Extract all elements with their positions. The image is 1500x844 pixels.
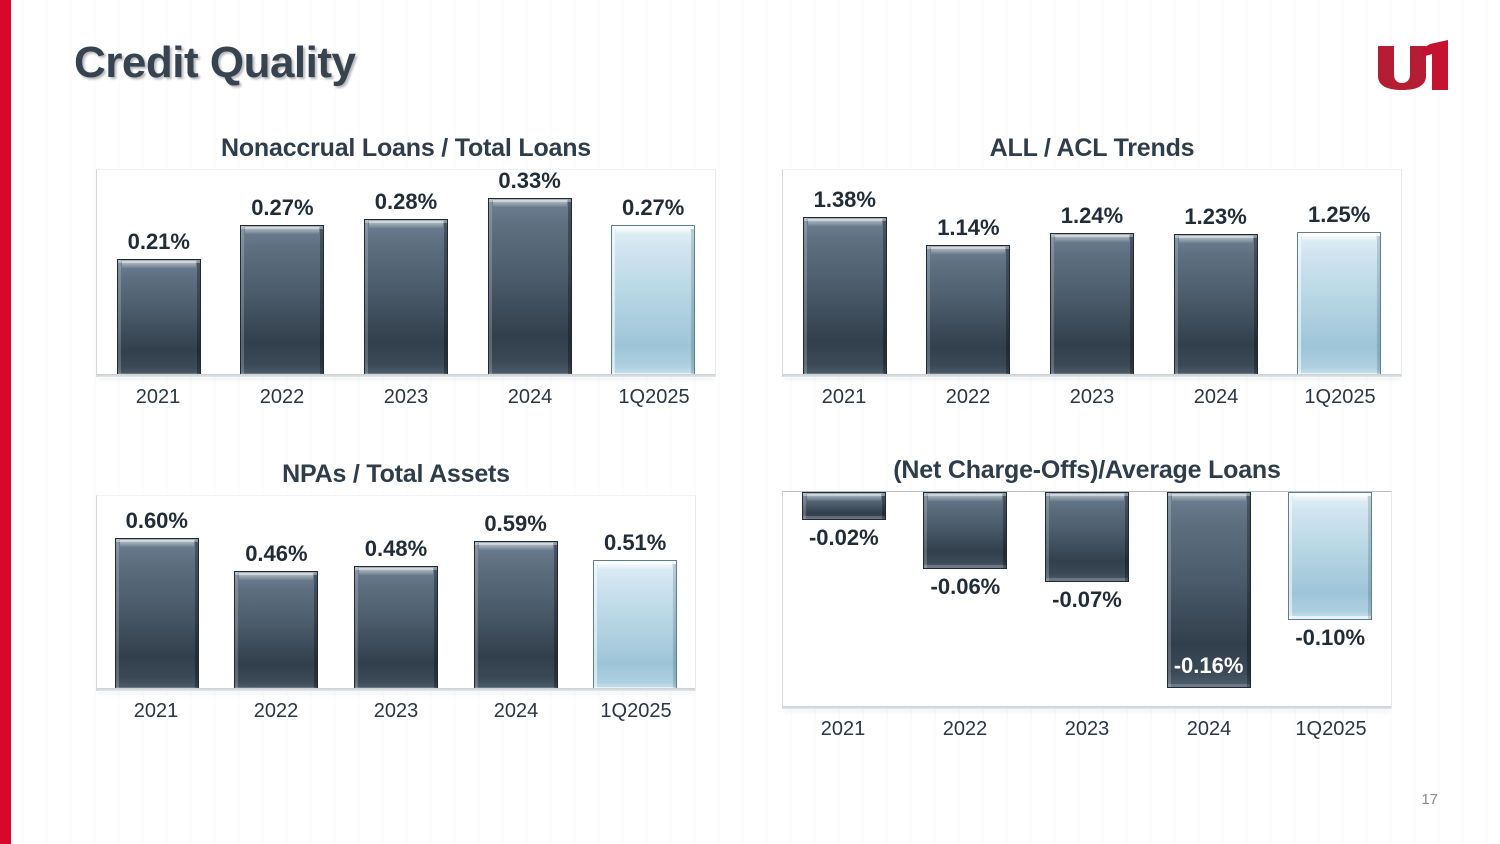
category-label: 2024	[462, 700, 570, 723]
bar-slot[interactable]: -0.10%	[1275, 492, 1384, 709]
bar-slot[interactable]: 0.59%	[462, 496, 570, 691]
category-label: 2022	[910, 718, 1020, 741]
chart-panel-all-acl-trends: ALL / ACL Trends 1.38% 1.14% 1.24% 1.23%	[782, 134, 1402, 409]
plot-area: -0.02% -0.06% -0.07% -0.16% -0.	[782, 491, 1392, 709]
bar-value-label: -0.06%	[931, 576, 1001, 598]
bar-slot[interactable]: 0.27%	[227, 170, 338, 377]
bar-value-label: -0.16%	[1168, 655, 1250, 677]
chart-title: (Net Charge-Offs)/Average Loans	[782, 456, 1392, 485]
bar-value-label: 0.33%	[498, 170, 560, 192]
bar-slot[interactable]: 0.46%	[223, 496, 331, 691]
bar[interactable]	[474, 541, 558, 691]
chart-title: Nonaccrual Loans / Total Loans	[96, 134, 716, 163]
category-axis: 2021 2022 2023 2024 1Q2025	[96, 700, 696, 723]
bar-group: -0.02% -0.06% -0.07% -0.16% -0.	[783, 492, 1391, 709]
category-label: 2022	[222, 700, 330, 723]
bar[interactable]	[234, 571, 318, 691]
category-label: 1Q2025	[1284, 386, 1396, 409]
bar-value-label: 0.48%	[365, 538, 427, 560]
bar[interactable]	[488, 198, 572, 377]
bar-slot[interactable]: -0.06%	[911, 492, 1020, 709]
category-label: 2021	[788, 386, 900, 409]
bar-value-label: 0.59%	[484, 513, 546, 535]
bar[interactable]	[1174, 234, 1258, 377]
bar[interactable]	[117, 259, 201, 377]
bar[interactable]	[802, 492, 886, 520]
bar-value-label: 0.27%	[622, 197, 684, 219]
bar-value-label: 0.51%	[604, 532, 666, 554]
page-title: Credit Quality	[74, 38, 356, 88]
bar-group: 1.38% 1.14% 1.24% 1.23% 1.25%	[783, 170, 1401, 377]
bar-slot[interactable]: 0.28%	[350, 170, 461, 377]
category-label: 2024	[474, 386, 586, 409]
axis-baseline	[97, 374, 715, 377]
bar-slot[interactable]: 0.60%	[103, 496, 211, 691]
bar-slot[interactable]: 1.14%	[913, 170, 1024, 377]
plot-area: 1.38% 1.14% 1.24% 1.23% 1.25%	[782, 169, 1402, 377]
category-axis: 2021 2022 2023 2024 1Q2025	[782, 718, 1392, 741]
bar-value-label: 1.14%	[937, 217, 999, 239]
category-label: 2021	[102, 386, 214, 409]
bar-value-label: 1.24%	[1061, 205, 1123, 227]
bar-slot[interactable]: 1.38%	[789, 170, 900, 377]
category-axis: 2021 2022 2023 2024 1Q2025	[782, 386, 1402, 409]
bar-highlighted[interactable]	[1288, 492, 1372, 620]
bar-value-label: 0.28%	[375, 191, 437, 213]
bar[interactable]: -0.16%	[1167, 492, 1251, 688]
bar[interactable]	[1050, 233, 1134, 377]
bar[interactable]	[926, 245, 1010, 377]
bar-slot[interactable]: 1.25%	[1284, 170, 1395, 377]
axis-baseline	[783, 706, 1391, 709]
category-label: 1Q2025	[582, 700, 690, 723]
bar-slot[interactable]: 0.51%	[581, 496, 689, 691]
category-label: 2023	[350, 386, 462, 409]
plot-area: 0.60% 0.46% 0.48% 0.59% 0.51%	[96, 495, 696, 691]
category-label: 2022	[226, 386, 338, 409]
bar[interactable]	[1045, 492, 1129, 582]
bar-value-label: 0.60%	[126, 510, 188, 532]
category-label: 2024	[1160, 386, 1272, 409]
bar-group: 0.21% 0.27% 0.28% 0.33% 0.27%	[97, 170, 715, 377]
bar-value-label: 0.46%	[245, 543, 307, 565]
bar[interactable]	[354, 566, 438, 691]
bar-slot[interactable]: 0.21%	[103, 170, 214, 377]
bar-slot[interactable]: 0.33%	[474, 170, 585, 377]
slide: Credit Quality 17 Nonaccrual Loans / Tot…	[0, 0, 1500, 844]
axis-baseline	[97, 688, 695, 691]
bar-slot[interactable]: -0.16%	[1154, 492, 1263, 709]
category-label: 2021	[788, 718, 898, 741]
bar-value-label: 1.38%	[814, 189, 876, 211]
bar-slot[interactable]: 0.27%	[598, 170, 709, 377]
bar-slot[interactable]: -0.07%	[1032, 492, 1141, 709]
chart-panel-net-charge-offs: (Net Charge-Offs)/Average Loans -0.02% -…	[782, 456, 1392, 741]
plot-area: 0.21% 0.27% 0.28% 0.33% 0.27%	[96, 169, 716, 377]
bar-highlighted[interactable]	[611, 225, 695, 377]
category-label: 2023	[1032, 718, 1142, 741]
bar-slot[interactable]: 1.23%	[1160, 170, 1271, 377]
bar-value-label: 0.27%	[251, 197, 313, 219]
category-label: 1Q2025	[598, 386, 710, 409]
category-axis: 2021 2022 2023 2024 1Q2025	[96, 386, 716, 409]
category-label: 2023	[1036, 386, 1148, 409]
bar-value-label: -0.07%	[1052, 589, 1122, 611]
bar-highlighted[interactable]	[593, 560, 677, 691]
bar[interactable]	[803, 217, 887, 377]
bar-value-label: -0.02%	[809, 527, 879, 549]
category-label: 1Q2025	[1276, 718, 1386, 741]
bar-group: 0.60% 0.46% 0.48% 0.59% 0.51%	[97, 496, 695, 691]
bar-value-label: 1.23%	[1184, 206, 1246, 228]
bar-slot[interactable]: 1.24%	[1036, 170, 1147, 377]
bar-slot[interactable]: -0.02%	[789, 492, 898, 709]
bar-value-label: 1.25%	[1308, 204, 1370, 226]
u1-logo-icon	[1372, 40, 1456, 92]
bar-slot[interactable]: 0.48%	[342, 496, 450, 691]
axis-baseline	[783, 374, 1401, 377]
bar[interactable]	[115, 538, 199, 691]
chart-panel-nonaccrual-loans: Nonaccrual Loans / Total Loans 0.21% 0.2…	[96, 134, 716, 409]
chart-title: ALL / ACL Trends	[782, 134, 1402, 163]
bar[interactable]	[364, 219, 448, 377]
left-accent-bar	[0, 0, 11, 844]
category-label: 2024	[1154, 718, 1264, 741]
bar-highlighted[interactable]	[1297, 232, 1381, 377]
bar-value-label: 0.21%	[128, 231, 190, 253]
category-label: 2023	[342, 700, 450, 723]
bar[interactable]	[923, 492, 1007, 569]
chart-panel-npas-total-assets: NPAs / Total Assets 0.60% 0.46% 0.48% 0.…	[96, 460, 696, 723]
category-label: 2021	[102, 700, 210, 723]
category-label: 2022	[912, 386, 1024, 409]
bar-value-label: -0.10%	[1295, 627, 1365, 649]
chart-title: NPAs / Total Assets	[96, 460, 696, 489]
bar[interactable]	[240, 225, 324, 377]
page-number: 17	[1421, 791, 1438, 808]
